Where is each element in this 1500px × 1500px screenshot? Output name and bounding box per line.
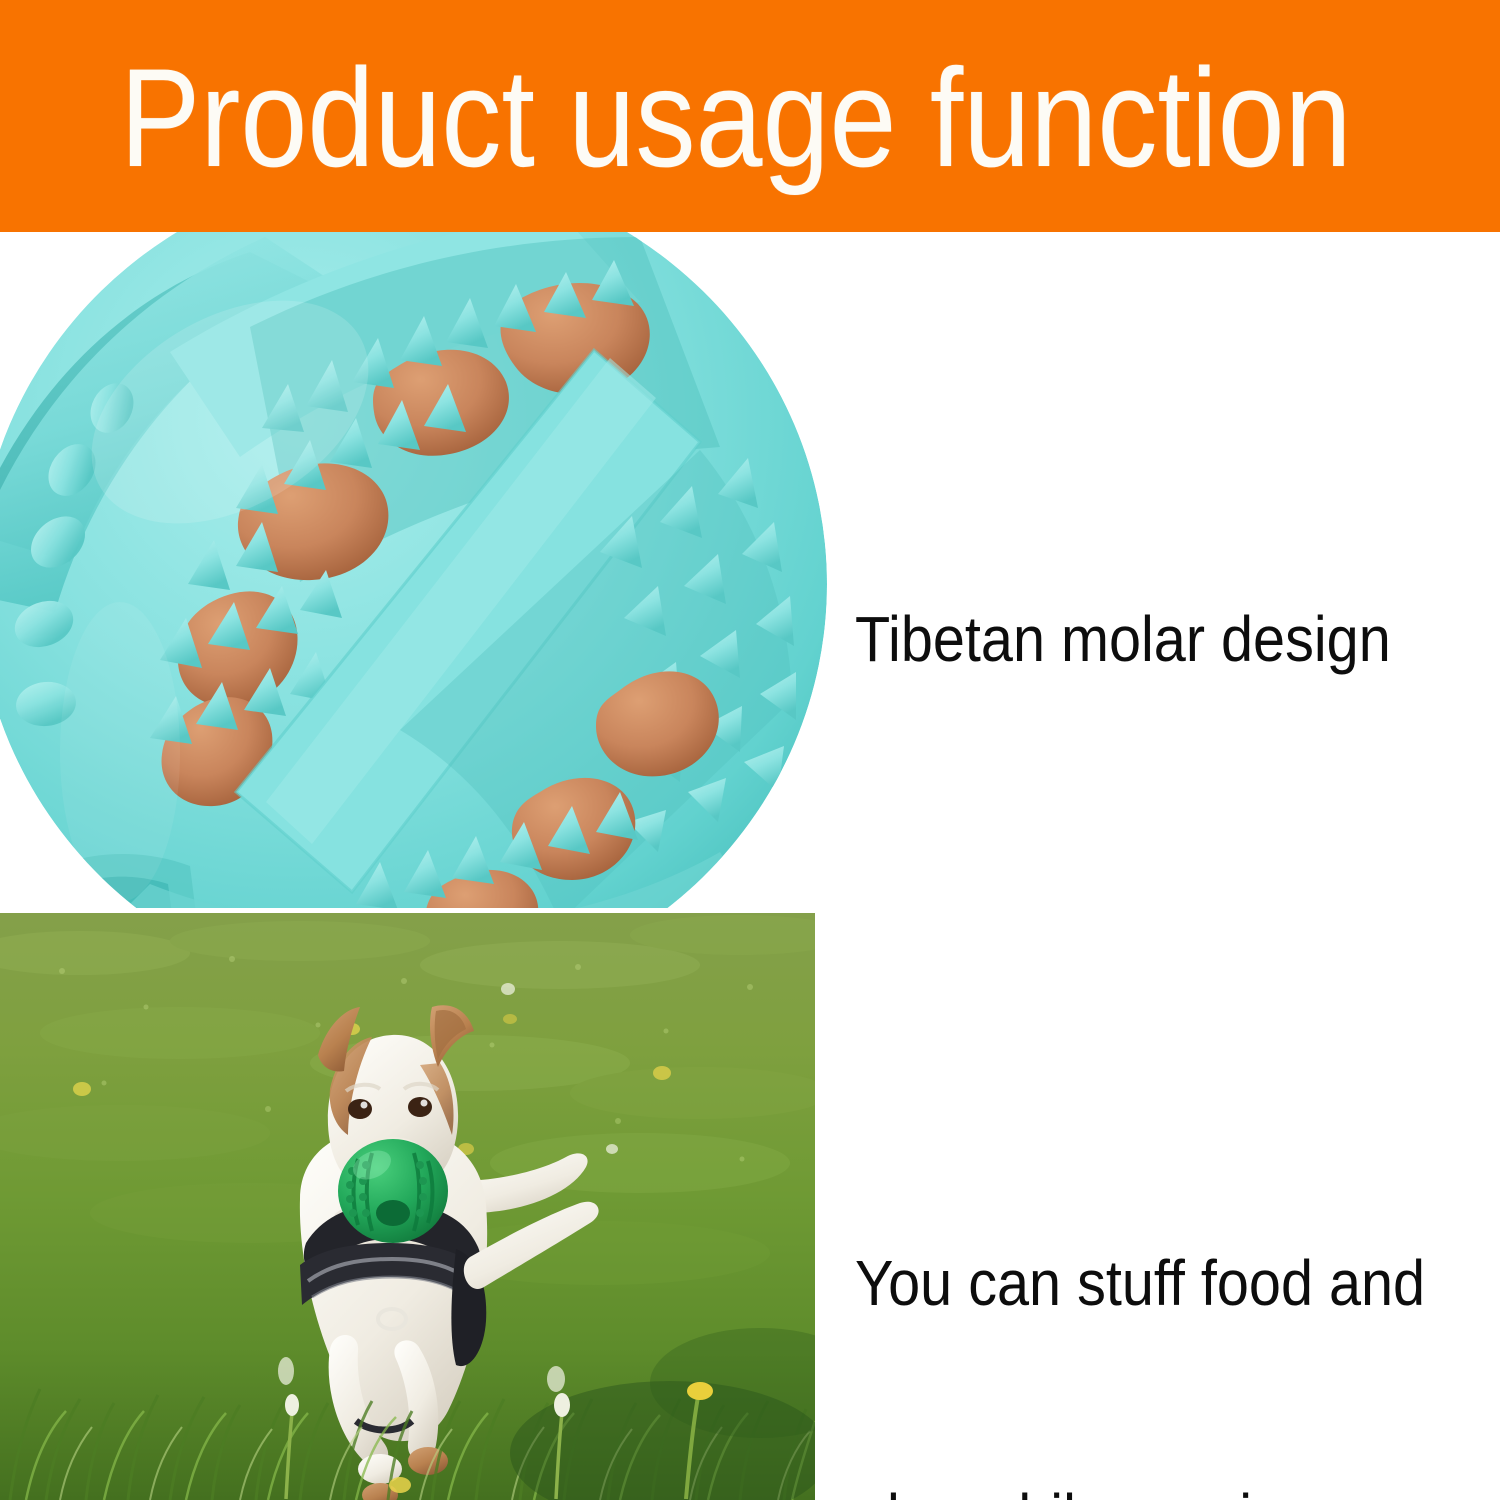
ball-illustration <box>0 232 840 914</box>
product-ball-photo <box>0 232 840 914</box>
caption-line-2: play while running <box>855 1478 1425 1500</box>
dog-running-photo <box>0 913 815 1500</box>
page-title: Product usage function <box>120 38 1352 198</box>
caption-line-1: You can stuff food and <box>855 1244 1425 1322</box>
header-banner: Product usage function <box>0 0 1500 232</box>
green-treat-ball <box>338 1139 448 1243</box>
dog-illustration <box>0 913 815 1500</box>
caption-molar-design: Tibetan molar design <box>855 604 1391 674</box>
caption-stuff-food: You can stuff food and play while runnin… <box>855 1088 1425 1500</box>
infographic-page: Product usage function <box>0 0 1500 1500</box>
